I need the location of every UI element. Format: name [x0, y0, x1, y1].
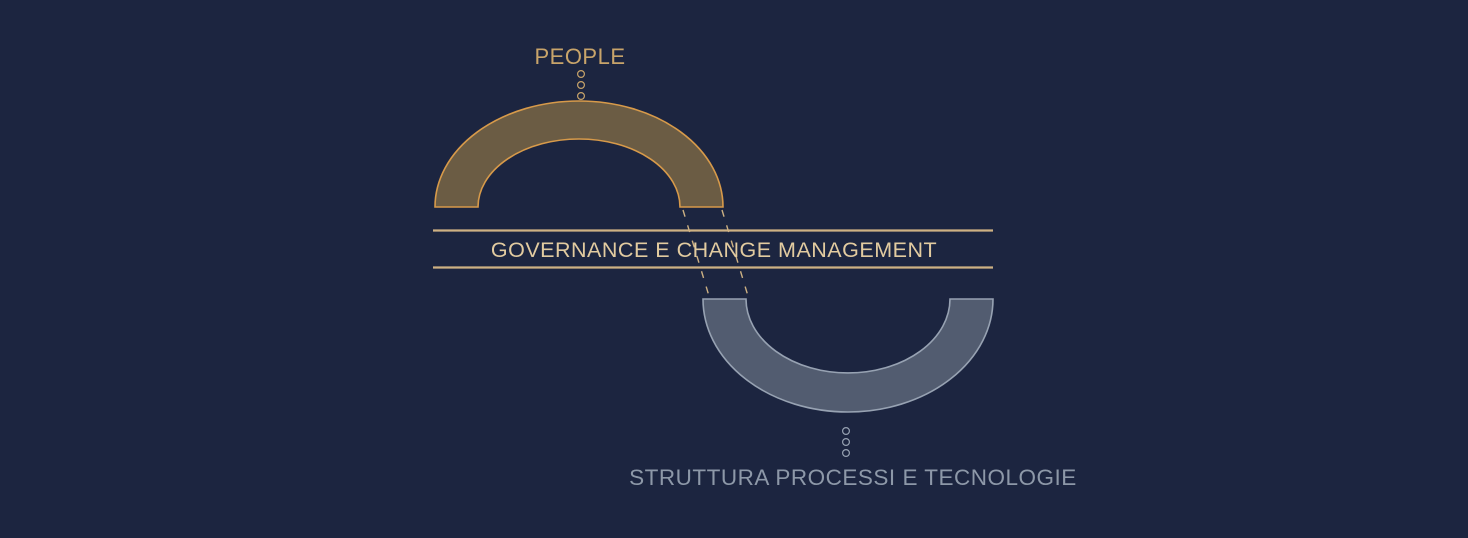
- governance-label: GOVERNANCE E CHANGE MANAGEMENT: [491, 238, 937, 262]
- governance-change-management-diagram: GOVERNANCE E CHANGE MANAGEMENT PEOPLE ST…: [0, 0, 1468, 538]
- people-label: PEOPLE: [534, 44, 625, 69]
- structure-label: STRUTTURA PROCESSI E TECNOLOGIE: [629, 465, 1077, 490]
- diagram-canvas: GOVERNANCE E CHANGE MANAGEMENT PEOPLE ST…: [0, 0, 1468, 538]
- background-rect: [0, 0, 1468, 538]
